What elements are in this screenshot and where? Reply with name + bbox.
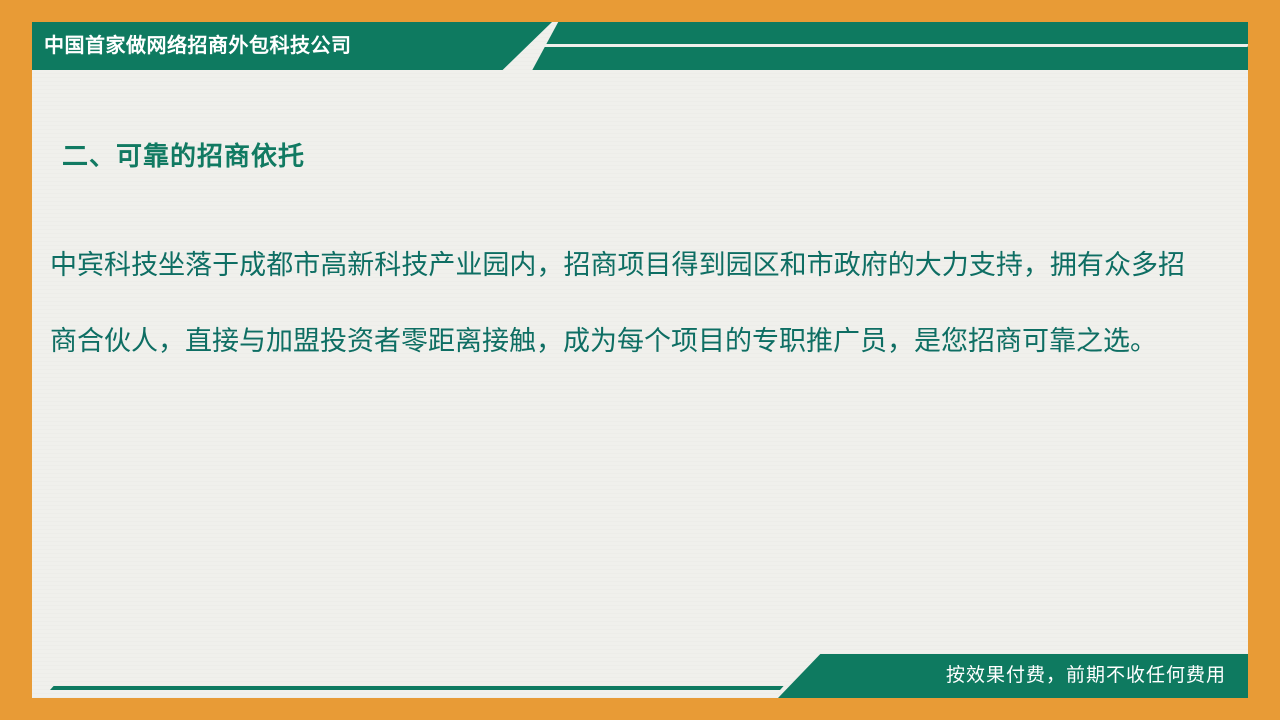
footer-tagline: 按效果付费，前期不收任何费用	[946, 654, 1226, 698]
header-divider-line	[533, 44, 1248, 47]
header-title: 中国首家做网络招商外包科技公司	[44, 22, 352, 70]
slide: 中国首家做网络招商外包科技公司 二、可靠的招商依托 中宾科技坐落于成都市高新科技…	[0, 0, 1280, 720]
body-paragraph: 中宾科技坐落于成都市高新科技产业园内，招商项目得到园区和市政府的大力支持，拥有众…	[50, 228, 1185, 380]
footer-stripe	[50, 686, 784, 690]
section-heading: 二、可靠的招商依托	[62, 136, 305, 173]
slide-footer: 按效果付费，前期不收任何费用	[32, 654, 1248, 698]
slide-header: 中国首家做网络招商外包科技公司	[32, 22, 1248, 70]
